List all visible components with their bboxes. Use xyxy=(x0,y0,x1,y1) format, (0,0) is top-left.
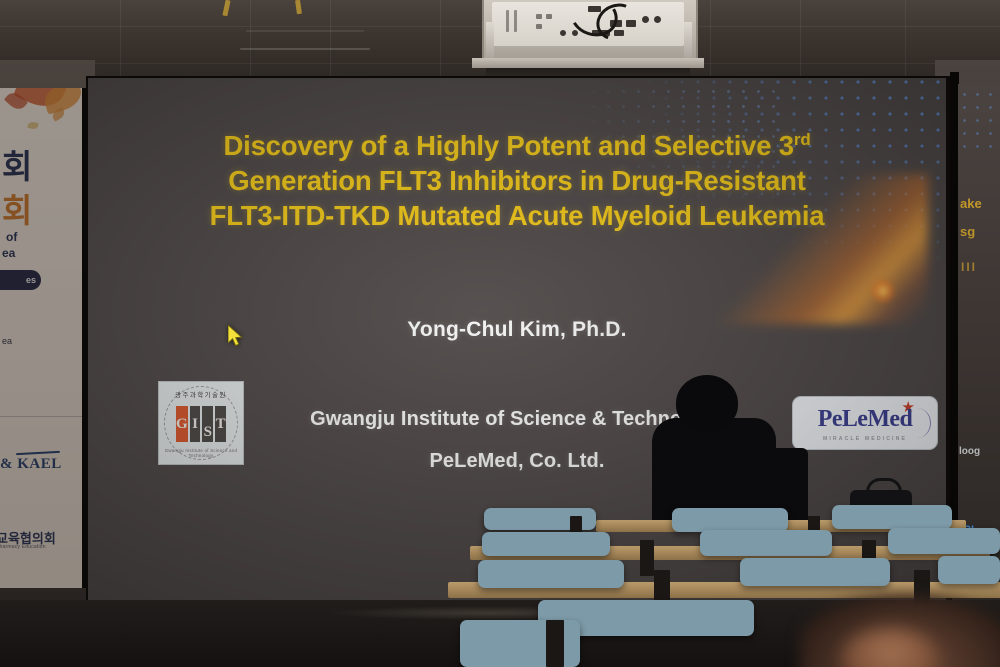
secondary-screen-right: ake sg III loog ICI xyxy=(958,84,1000,554)
right-screen-yellow-line-3: III xyxy=(961,260,977,274)
ceiling-marker xyxy=(295,0,302,14)
seat[interactable] xyxy=(482,532,610,556)
projector-mount-bracket xyxy=(472,58,704,68)
seat[interactable] xyxy=(832,505,952,529)
seat[interactable] xyxy=(672,508,788,532)
lecture-hall-photo: 회 회 of ea es ea & KAEL 교육협의회 Pharmacy Ed… xyxy=(0,0,1000,667)
attendee-silhouette-head xyxy=(676,375,738,431)
right-screen-yellow-line-2: sg xyxy=(960,224,975,239)
mouse-cursor-icon xyxy=(228,325,245,348)
ceiling-marker xyxy=(222,0,230,16)
right-screen-yellow-line-1: ake xyxy=(960,196,982,211)
ceiling-light-slot xyxy=(240,48,370,50)
ceiling-light-slot xyxy=(246,30,364,32)
seat[interactable] xyxy=(700,530,832,556)
seat[interactable] xyxy=(938,556,1000,584)
right-screen-dot-grid xyxy=(958,88,1000,148)
seat[interactable] xyxy=(478,560,624,588)
seat[interactable] xyxy=(740,558,890,586)
right-screen-white-line: loog xyxy=(959,446,980,457)
seat[interactable] xyxy=(888,528,1000,554)
projector-body xyxy=(492,2,684,46)
conference-banner-left: 회 회 of ea es ea & KAEL 교육협의회 Pharmacy Ed… xyxy=(0,88,82,588)
